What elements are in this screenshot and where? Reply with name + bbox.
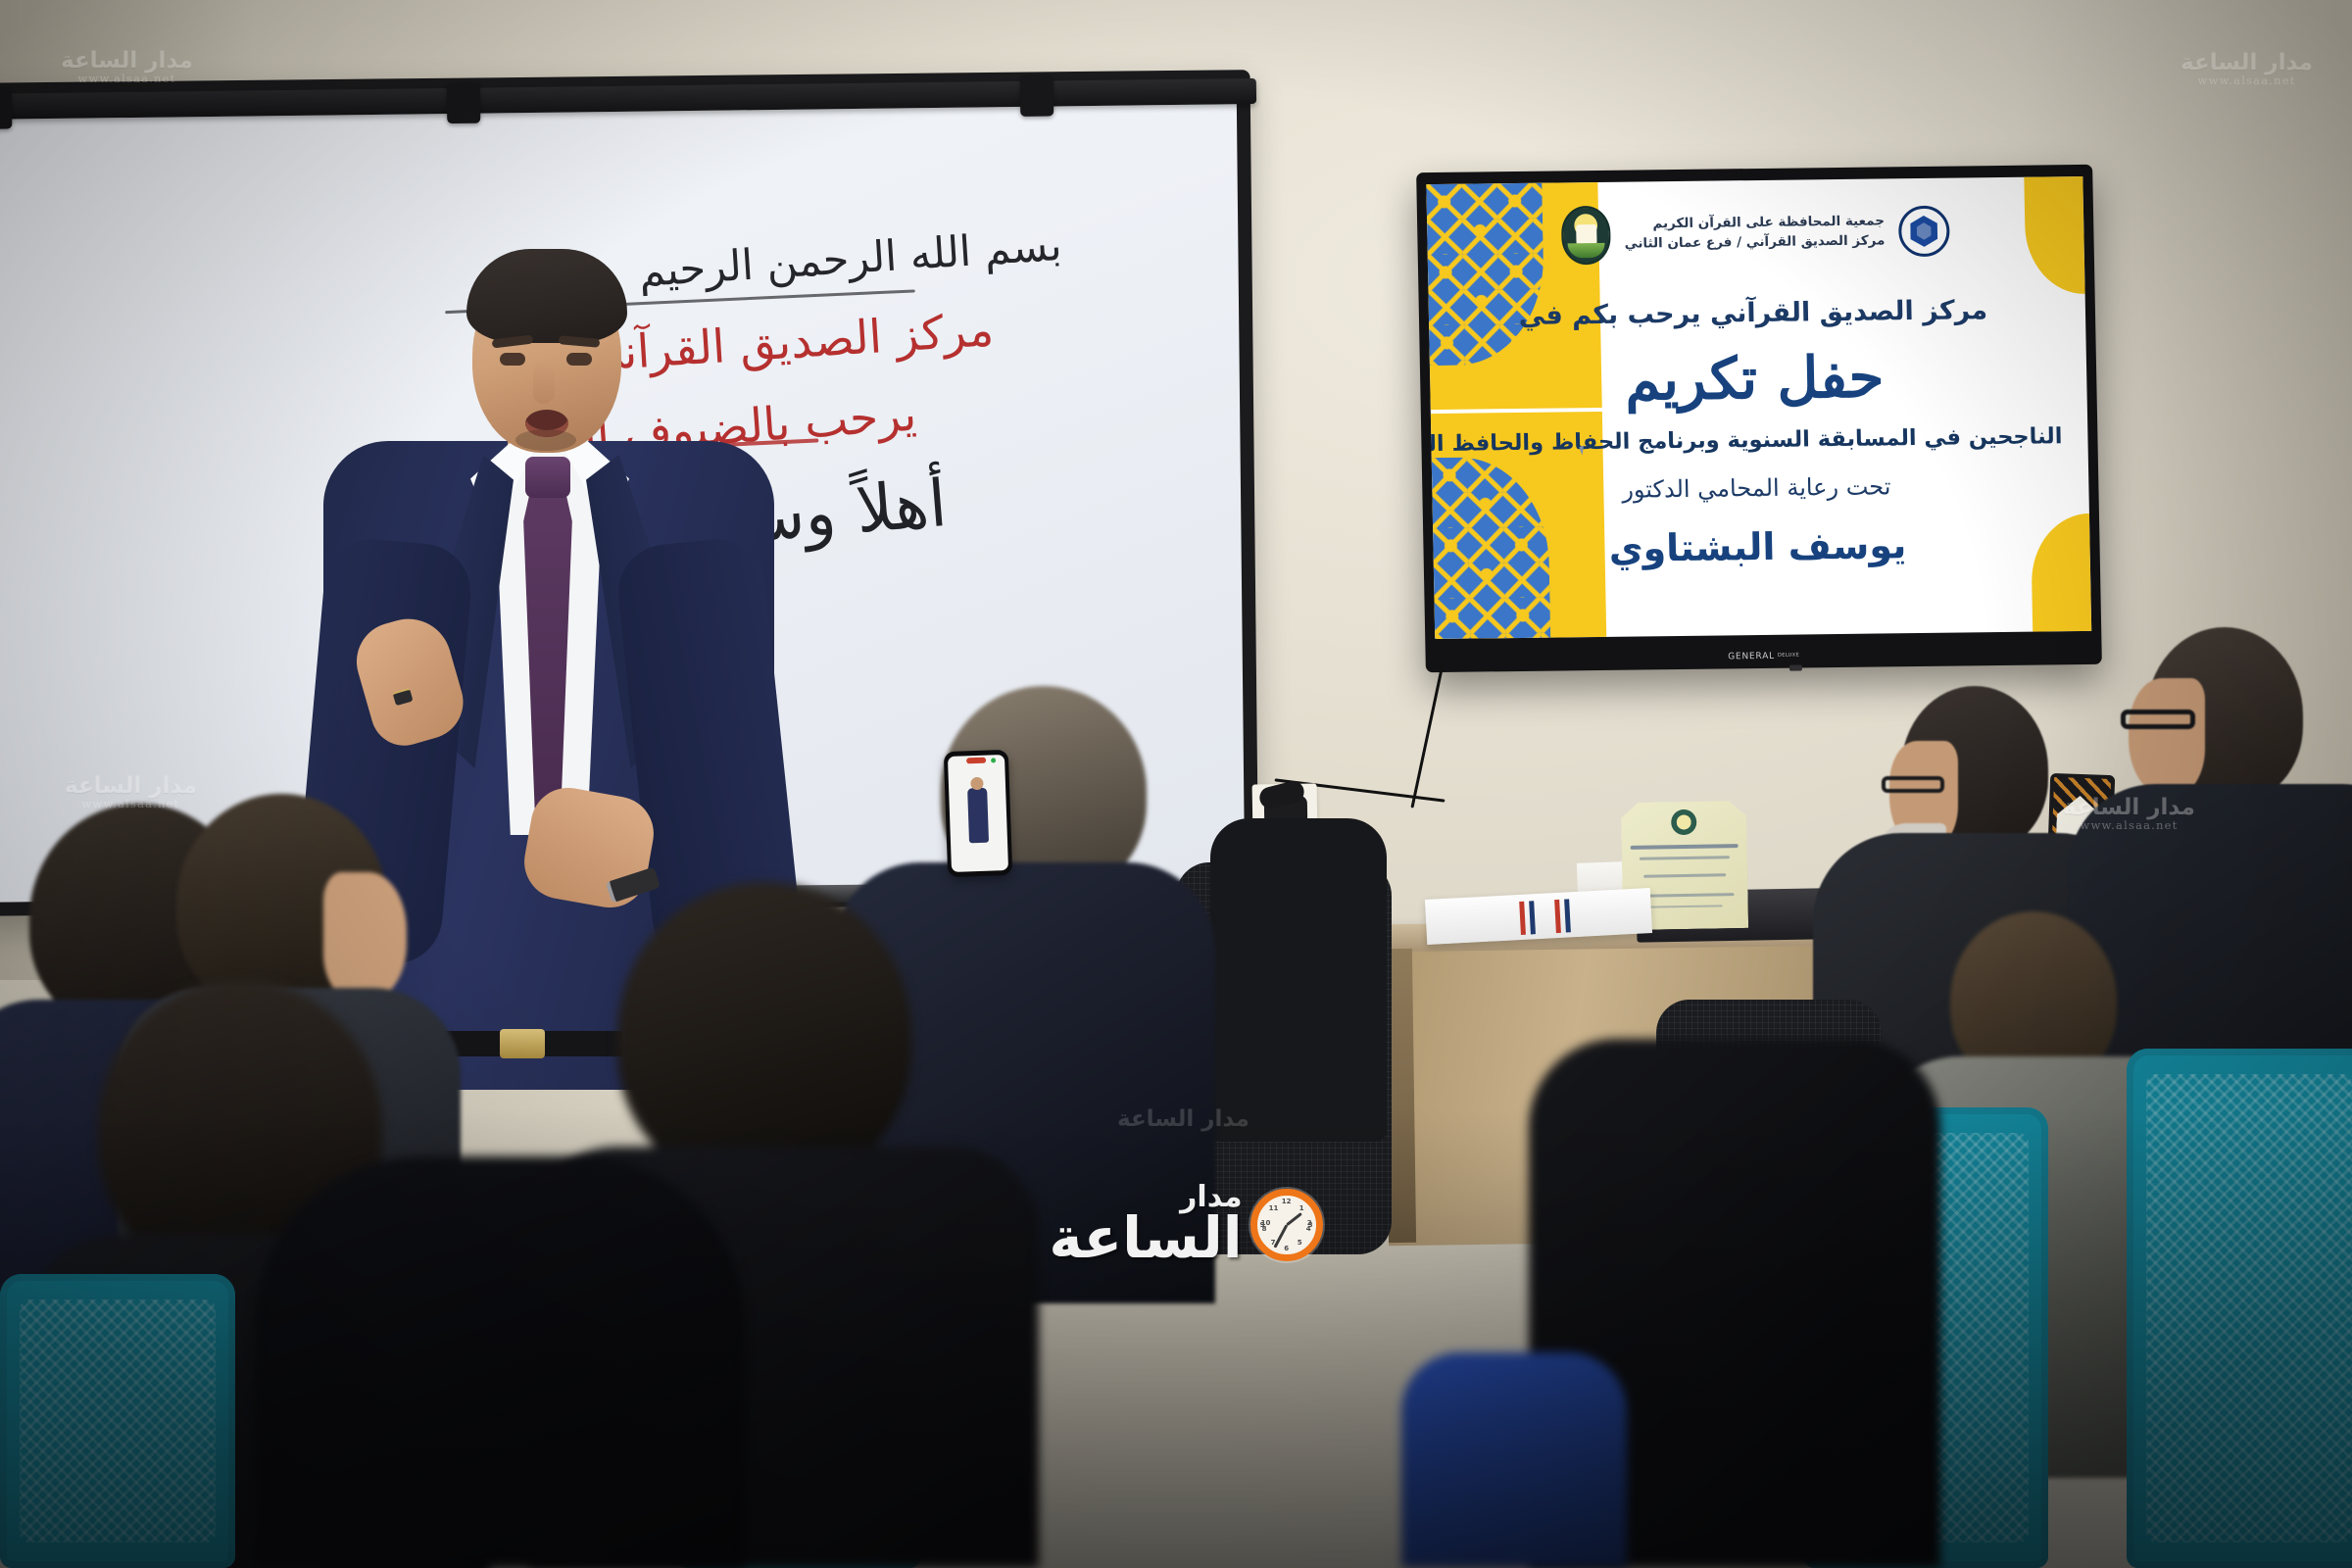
slide-header: جمعية المحافظة على القرآن الكريم مركز ال… <box>1427 200 2084 267</box>
whiteboard-clip <box>0 87 12 128</box>
whiteboard-clip <box>1020 74 1054 116</box>
presenter-beard-shadow <box>515 429 576 451</box>
smartphone-recording[interactable] <box>944 750 1012 877</box>
slide-org-line-2: مركز الصديق القرآني / فرع عمان الثاني <box>1625 231 1886 254</box>
audience-torso <box>255 1156 745 1568</box>
audience-eyeglasses-icon <box>1882 776 1944 793</box>
phone-ui-banner <box>966 758 986 764</box>
slide-welcome-text: مركز الصديق القرآني يرحب بكم في <box>1446 294 2061 332</box>
presenter-hair <box>466 249 627 343</box>
audience-eyeglasses-icon <box>2121 710 2195 729</box>
audience-person-blue-bag <box>1401 1352 1627 1568</box>
phone-screen <box>948 755 1008 872</box>
slide-organization-lines: جمعية المحافظة على القرآن الكريم مركز ال… <box>1624 213 1885 254</box>
audience-head <box>617 882 911 1186</box>
slide-patron-name: يوسف البشتاوي <box>1450 521 2065 572</box>
presenter-nose <box>533 363 555 404</box>
tv-screen: جمعية المحافظة على القرآن الكريم مركز ال… <box>1426 176 2091 639</box>
photo-scene: بسم الله الرحمن الرحيم مركز الصديق القرآ… <box>0 0 2352 1568</box>
wall-mounted-tv: جمعية المحافظة على القرآن الكريم مركز ال… <box>1416 165 2102 672</box>
phone-preview-speaker <box>967 788 989 844</box>
presenter-tie-knot <box>525 457 570 498</box>
blue-item <box>1401 1352 1627 1568</box>
tv-ir-sensor-icon <box>1789 664 1802 670</box>
tv-brand-label: GENERALDELUXE <box>1728 652 1799 662</box>
plaque-seal-icon <box>1671 809 1696 835</box>
audience-child-front-left-dark <box>255 1156 745 1568</box>
slide-title: حفل تكريم <box>1447 341 2062 416</box>
office-chair-tall <box>1210 818 1387 1142</box>
chair-teal-right-2 <box>2127 1049 2352 1568</box>
quran-society-emblem-icon <box>1561 206 1611 266</box>
whiteboard-clip <box>447 82 481 123</box>
audience-face <box>2129 678 2205 796</box>
presenter-eye-right <box>566 353 592 366</box>
presenter-eye-left <box>500 353 525 366</box>
recording-indicator-icon <box>991 758 996 762</box>
jordan-emblem-icon <box>1898 206 1950 258</box>
presenter-belt-buckle <box>500 1029 545 1058</box>
chair-teal-left-1 <box>0 1274 235 1568</box>
